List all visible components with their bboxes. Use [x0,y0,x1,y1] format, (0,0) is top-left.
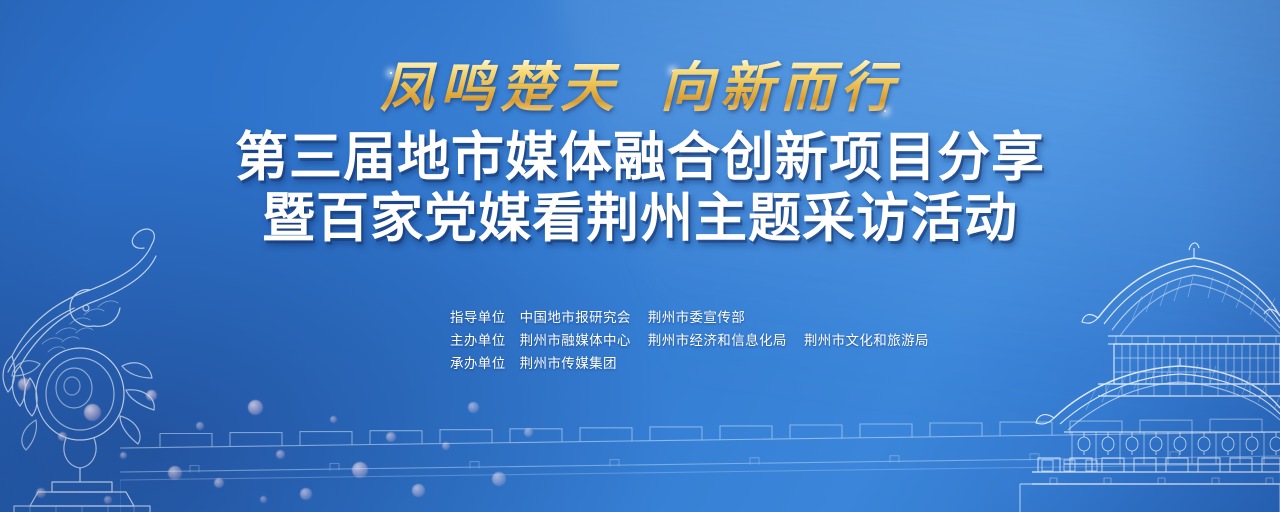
credit-row-host: 主办单位荆州市融媒体中心荆州市经济和信息化局荆州市文化和旅游局 [450,329,929,352]
credit-label: 主办单位 [450,329,506,352]
credit-label: 指导单位 [450,306,506,329]
event-banner: 凤鸣楚天向新而行 第三届地市媒体融合创新项目分享 暨百家党媒看荆州主题采访活动 … [0,0,1280,512]
credit-org: 荆州市融媒体中心 [520,329,631,352]
credit-org: 中国地市报研究会 [520,306,631,329]
banner-content: 凤鸣楚天向新而行 第三届地市媒体融合创新项目分享 暨百家党媒看荆州主题采访活动 [0,0,1280,249]
credit-row-organizer: 承办单位荆州市传媒集团 [450,352,929,375]
credit-org: 荆州市文化和旅游局 [804,329,929,352]
credit-label: 承办单位 [450,352,506,375]
calligraphy-part-1: 凤鸣楚天 [380,55,620,119]
credit-org: 荆州市传媒集团 [520,352,617,375]
event-title-line-1: 第三届地市媒体融合创新项目分享 [0,128,1280,187]
calligraphy-part-2: 向新而行 [660,55,900,119]
calligraphy-headline: 凤鸣楚天向新而行 [380,60,900,114]
event-title-line-2: 暨百家党媒看荆州主题采访活动 [0,189,1280,248]
credit-org: 荆州市委宣传部 [648,306,745,329]
credits-block: 指导单位中国地市报研究会荆州市委宣传部 主办单位荆州市融媒体中心荆州市经济和信息… [450,306,929,375]
credit-org: 荆州市经济和信息化局 [648,329,787,352]
credit-row-guidance: 指导单位中国地市报研究会荆州市委宣传部 [450,306,929,329]
